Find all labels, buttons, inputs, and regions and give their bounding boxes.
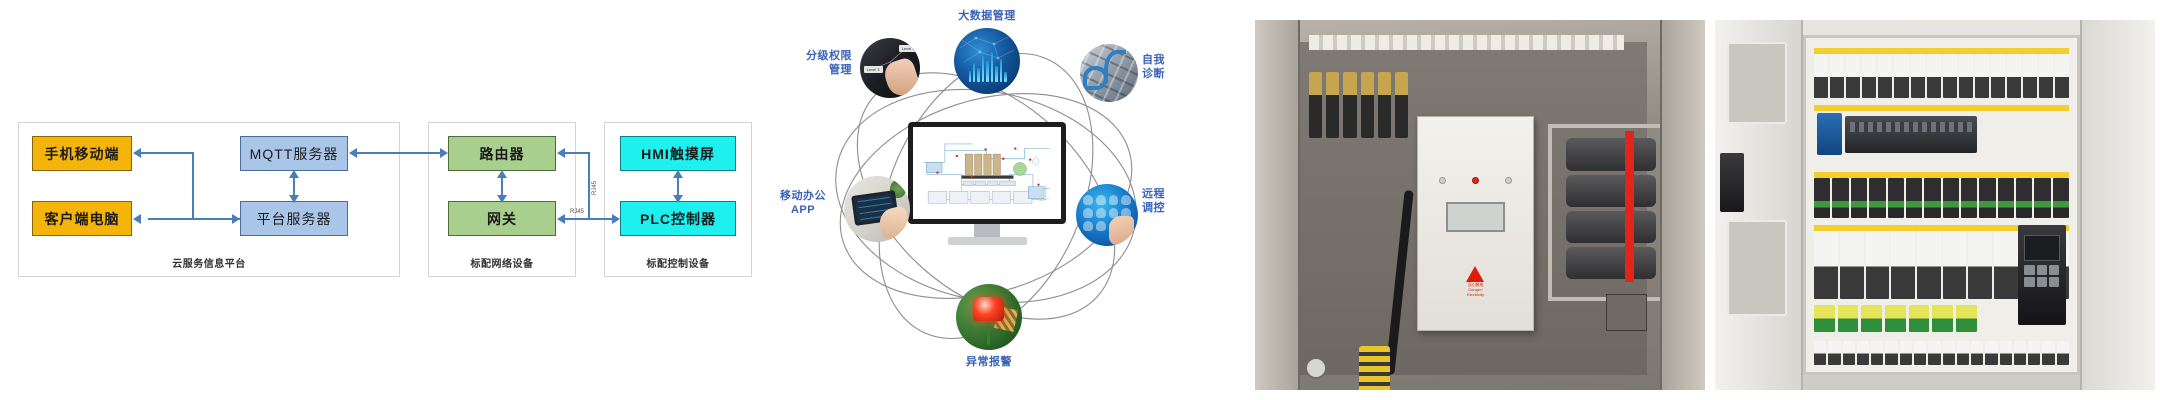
cabinet-a-pressure-gauge (1305, 357, 1328, 379)
cabinet-b-terminal-rail (1814, 335, 2069, 365)
node-gateway[interactable]: 网关 (448, 201, 556, 236)
arrowhead-hmi-bottom (673, 170, 683, 178)
monitor-base (948, 237, 1027, 245)
link-branch-up (192, 153, 194, 219)
warning-text-en: Danger! Electricity (1462, 288, 1490, 297)
hub-label-remote: 远程 调控 (1142, 188, 1204, 216)
hub-label-mobile-app: 移动办公 APP (766, 190, 840, 218)
cabinet-b-relay-rail (1814, 172, 2069, 219)
hub-label-alarm: 异常报警 (934, 356, 1044, 370)
cabinet-b-plc-rail (1814, 105, 2069, 165)
cabinet-b-right-door (2080, 20, 2155, 390)
cabinet-b-breaker-rail (1814, 48, 2069, 98)
link-platform-branch (148, 218, 240, 220)
figure-canvas: 云服务信息平台 标配网络设备 标配控制设备 手机移动端 客户端电脑 MQTT服务… (0, 0, 2160, 400)
arrowhead-router-bottom (497, 170, 507, 178)
hub-label-diagnosis: 自我 诊断 (1142, 54, 1204, 82)
bubble-access-icon[interactable]: Level 1 Level 3 Level (860, 38, 920, 98)
link-label-rj45-upper: RJ45 (592, 181, 598, 195)
cabinet-a-hmi-display (1446, 202, 1506, 232)
high-voltage-warning-label: 当心触电 Danger! Electricity (1462, 266, 1490, 297)
high-voltage-icon (1466, 266, 1484, 282)
bigdata-bars-icon (969, 52, 1007, 82)
bubble-alarm-icon[interactable] (956, 284, 1022, 350)
cabinet-b-vfd-drive (2018, 225, 2067, 325)
group-control-caption: 标配控制设备 (605, 255, 751, 270)
link-branch-mobile (140, 152, 194, 154)
node-hmi-touchscreen[interactable]: HMI触摸屏 (620, 136, 736, 171)
vfd-keypad-display (2024, 235, 2059, 261)
arrowhead-platform-left (232, 214, 240, 224)
arrowhead-plc-top (673, 195, 683, 203)
vfd-keypad-buttons (2024, 265, 2059, 287)
node-mqtt-server-label: MQTT服务器 (250, 147, 339, 161)
node-plc-controller-label: PLC控制器 (640, 212, 716, 226)
touch-hand-icon (1109, 216, 1134, 245)
stethoscope-tube-icon (1104, 50, 1126, 84)
group-network-caption: 标配网络设备 (429, 255, 575, 270)
cabinet-a-sensor-box (1606, 294, 1647, 331)
scada-screen (908, 122, 1066, 224)
cabinet-a-scene: 当心触电 Danger! Electricity (1255, 20, 1705, 390)
scada-monitor[interactable] (908, 122, 1066, 250)
cabinet-b-scene (1715, 20, 2155, 390)
cabinet-a-right-door (1660, 20, 1705, 390)
node-desktop-client-label: 客户端电脑 (45, 212, 120, 226)
arrowhead-mqtt-bottom (289, 170, 299, 178)
node-platform-server[interactable]: 平台服务器 (240, 201, 348, 236)
cabinet-b-power-supply (1817, 113, 1842, 155)
cabinet-b-plc-module (1845, 116, 1978, 153)
control-cabinet-photo: 当心触电 Danger! Electricity (1255, 20, 1705, 390)
arrowhead-platform-top (289, 195, 299, 203)
capability-hub-infographic: 大数据管理 自我 诊断 远程 调控 (760, 0, 1255, 400)
link-router-riser-top (564, 152, 590, 154)
node-hmi-touchscreen-label: HMI触摸屏 (641, 147, 715, 161)
alarm-post-icon (987, 318, 990, 344)
cabinet-b-left-door (1715, 20, 1803, 390)
link-router-riser (588, 153, 590, 219)
indicator-lamp-alarm (1472, 177, 1479, 184)
link-mqtt-router (356, 152, 440, 154)
node-mqtt-server[interactable]: MQTT服务器 (240, 136, 348, 171)
electrical-panel-photo (1715, 20, 2155, 390)
node-router[interactable]: 路由器 (448, 136, 556, 171)
node-plc-controller[interactable]: PLC控制器 (620, 201, 736, 236)
indicator-lamp-right (1505, 177, 1512, 184)
arrowhead-plc-left (612, 214, 620, 224)
node-platform-server-label: 平台服务器 (257, 212, 332, 226)
hub-label-bigdata: 大数据管理 (932, 10, 1042, 24)
cabinet-a-indicator-row (1439, 177, 1513, 184)
cabinet-a-left-door (1255, 20, 1300, 390)
cabinet-a-valve-manifold (1309, 72, 1408, 139)
monitor-neck (974, 224, 999, 237)
node-mobile-client[interactable]: 手机移动端 (32, 136, 132, 171)
node-router-label: 路由器 (480, 147, 525, 161)
arrowhead-gateway-right (557, 214, 565, 224)
cabinet-a-control-box: 当心触电 Danger! Electricity (1417, 116, 1534, 331)
bubble-mobile-app-icon[interactable] (844, 176, 910, 242)
cabinet-a-light-strip (1309, 35, 1624, 50)
cabinet-b-door-device (1720, 153, 1744, 212)
indicator-lamp-left (1439, 177, 1446, 184)
bubble-diagnosis-icon[interactable] (1080, 44, 1138, 102)
arrowhead-mobile (133, 148, 141, 158)
arrowhead-router-left (440, 148, 448, 158)
alarm-beacon-icon (973, 297, 1003, 321)
access-chip-level1: Level 1 (899, 45, 918, 52)
access-chip-level3: Level 3 (864, 66, 883, 73)
node-desktop-client[interactable]: 客户端电脑 (32, 201, 132, 236)
group-cloud-caption: 云服务信息平台 (19, 255, 399, 270)
bubble-bigdata-icon[interactable] (954, 28, 1020, 94)
system-architecture-diagram: 云服务信息平台 标配网络设备 标配控制设备 手机移动端 客户端电脑 MQTT服务… (0, 0, 760, 400)
link-label-rj45-lower: RJ45 (570, 209, 584, 215)
cabinet-a-yellow-bollard (1359, 346, 1391, 390)
bubble-remote-icon[interactable] (1076, 184, 1138, 246)
node-mobile-client-label: 手机移动端 (45, 147, 120, 161)
arrowhead-router-right (557, 148, 565, 158)
scada-process-diagram (917, 130, 1056, 213)
arrowhead-gateway-top (497, 195, 507, 203)
arrowhead-mqtt (349, 148, 357, 158)
node-gateway-label: 网关 (487, 212, 517, 226)
cabinet-b-ground-bar (1814, 305, 1977, 332)
cabinet-a-pipe-bank (1566, 138, 1656, 279)
arrowhead-client (133, 214, 141, 224)
hub-label-access: 分级权限 管理 (774, 50, 852, 78)
cabinet-b-enclosure (1803, 35, 2080, 375)
